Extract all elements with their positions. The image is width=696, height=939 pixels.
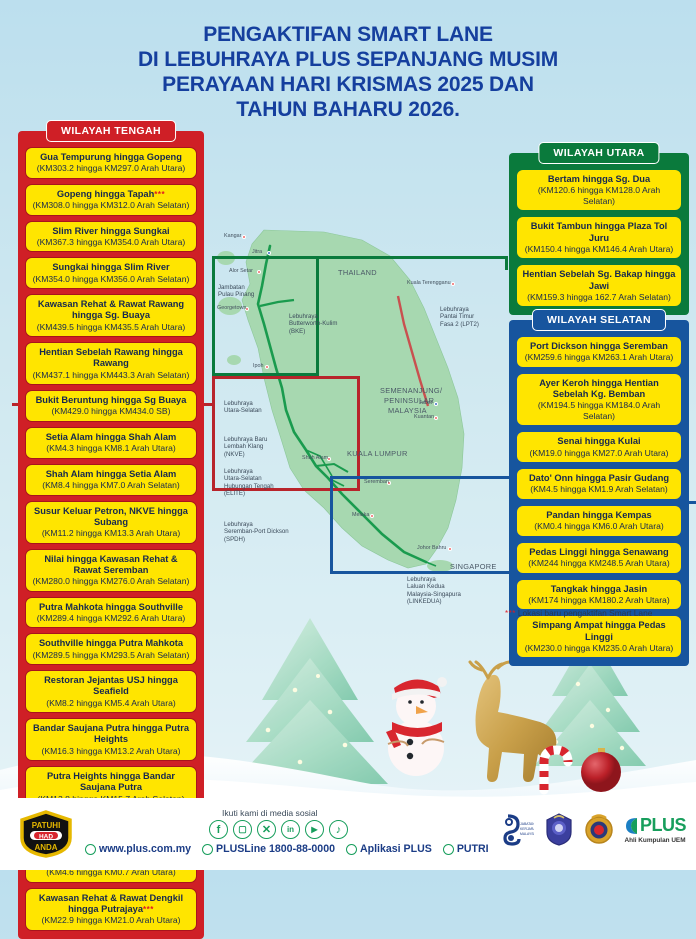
contact-label: Aplikasi PLUS <box>360 843 432 855</box>
map-city-dot <box>267 251 271 255</box>
location-km-range: (KM303.2 hingga KM297.0 Arah Utara) <box>30 163 192 174</box>
svg-text:JABATAN: JABATAN <box>520 822 534 826</box>
location-km-range: (KM174 hingga KM180.2 Arah Utara) <box>521 595 677 606</box>
location-item: Nilai hingga Kawasan Rehat & Rawat Serem… <box>25 549 197 592</box>
location-item: Bertam hingga Sg. Dua(KM120.6 hingga KM1… <box>516 169 682 211</box>
contact-item[interactable]: Aplikasi PLUS <box>346 843 432 855</box>
location-km-range: (KM429.0 hingga KM434.0 SB) <box>30 406 192 417</box>
location-name: Ayer Keroh hingga Hentian Sebelah Kg. Be… <box>521 378 677 400</box>
location-item: Kawasan Rehat & Rawat Dengkil hingga Put… <box>25 888 197 931</box>
jpj-logo <box>584 812 614 846</box>
location-item: Hentian Sebelah Sg. Bakap hingga Jawi(KM… <box>516 264 682 307</box>
map-city-dot <box>257 270 261 274</box>
location-km-range: (KM244 hingga KM248.5 Arah Utara) <box>521 558 677 569</box>
footnote-asterisk: *** <box>505 609 516 618</box>
location-km-range: (KM159.3 hingga 162.7 Arah Selatan) <box>521 292 677 303</box>
location-name: Nilai hingga Kawasan Rehat & Rawat Serem… <box>30 554 192 576</box>
globe-icon <box>85 844 96 855</box>
location-item: Setia Alam hingga Shah Alam(KM4.3 hingga… <box>25 427 197 459</box>
location-name: Sungkai hingga Slim River <box>30 262 192 273</box>
location-name: Bertam hingga Sg. Dua <box>521 174 677 185</box>
contact-item[interactable]: PLUSLine 1800-88-0000 <box>202 843 335 855</box>
location-item: Shah Alam hingga Setia Alam(KM8.4 hingga… <box>25 464 197 496</box>
plus-swoosh-icon <box>624 815 640 835</box>
location-item: Putra Mahkota hingga Southville(KM289.4 … <box>25 597 197 629</box>
plus-logo-text: PLUS <box>640 815 686 836</box>
location-name: Tangkak hingga Jasin <box>521 584 677 595</box>
snowman <box>386 677 447 776</box>
location-item: Southville hingga Putra Mahkota(KM289.5 … <box>25 633 197 665</box>
mobile-app-icon <box>346 844 357 855</box>
location-item: Senai hingga Kulai(KM19.0 hingga KM27.0 … <box>516 431 682 463</box>
contact-item[interactable]: PUTRI <box>443 843 489 855</box>
location-name: Susur Keluar Petron, NKVE hingga Subang <box>30 506 192 528</box>
contact-label: PUTRI <box>457 843 489 855</box>
location-name: Pandan hingga Kempas <box>521 510 677 521</box>
social-media-heading: Ikuti kami di media sosial <box>222 808 318 818</box>
facebook-icon[interactable]: f <box>209 820 228 839</box>
svg-text:KERJARAYA: KERJARAYA <box>520 827 534 831</box>
location-km-range: (KM439.5 hingga KM435.5 Arah Utara) <box>30 322 192 333</box>
location-name: Port Dickson hingga Seremban <box>521 341 677 352</box>
location-name: Kawasan Rehat & Rawat Rawang hingga Sg. … <box>30 299 192 321</box>
map-city-label: Jabor <box>419 400 433 406</box>
location-km-range: (KM8.2 hingga KM5.4 Arah Utara) <box>30 698 192 709</box>
contact-item[interactable]: www.plus.com.my <box>85 843 191 855</box>
infographic-root: PENGAKTIFAN SMART LANE DI LEBUHRAYA PLUS… <box>0 0 696 870</box>
location-name: Putra Mahkota hingga Southville <box>30 602 192 613</box>
map-city-label: Kangar <box>224 233 241 239</box>
location-item: Gua Tempurung hingga Gopeng(KM303.2 hing… <box>25 147 197 179</box>
peninsular-malaysia-map: THAILANDSEMENANJUNG/PENINSULARMALAYSIAKU… <box>212 228 512 600</box>
contact-row: www.plus.com.myPLUSLine 1800-88-0000Apli… <box>85 843 489 855</box>
map-country-label: KUALA LUMPUR <box>347 449 408 458</box>
instagram-icon[interactable]: ▢ <box>233 820 252 839</box>
location-km-range: (KM367.3 hingga KM354.0 Arah Utara) <box>30 237 192 248</box>
phone-icon <box>202 844 213 855</box>
social-media-row: f▢✕in▶♪ <box>209 820 348 839</box>
linkedin-icon[interactable]: in <box>281 820 300 839</box>
location-km-range: (KM16.3 hingga KM13.2 Arah Utara) <box>30 746 192 757</box>
location-item: Bukit Tambun hingga Plaza Tol Juru(KM150… <box>516 216 682 259</box>
svg-text:HAD: HAD <box>39 834 53 841</box>
microphone-icon <box>443 844 454 855</box>
location-km-range: (KM4.5 hingga KM1.9 Arah Selatan) <box>521 484 677 495</box>
location-km-range: (KM19.0 hingga KM27.0 Arah Utara) <box>521 448 677 459</box>
location-item: Pandan hingga Kempas(KM0.4 hingga KM6.0 … <box>516 505 682 537</box>
location-item: Pedas Linggi hingga Senawang(KM244 hingg… <box>516 542 682 574</box>
badge-wilayah-utara: WILAYAH UTARA <box>538 142 659 164</box>
map-highway-label: LebuhrayaSeremban-Port Dickson(SPDH) <box>224 521 289 543</box>
plus-logo: PLUS Ahli Kumpulan UEM <box>624 815 686 844</box>
location-name: Bukit Tambun hingga Plaza Tol Juru <box>521 221 677 243</box>
map-highway-label: LebuhrayaUtara-Selatan <box>224 400 262 415</box>
map-highway-label: LebuhrayaLaluan KeduaMalaysia-Singapura(… <box>407 576 461 606</box>
location-km-range: (KM354.0 hingga KM356.0 Arah Selatan) <box>30 274 192 285</box>
location-name: Bandar Saujana Putra hingga Putra Height… <box>30 723 192 745</box>
candy-cane <box>544 750 568 790</box>
map-city-dot <box>451 282 455 286</box>
location-km-range: (KM8.4 hingga KM7.0 Arah Selatan) <box>30 480 192 491</box>
location-name: Pedas Linggi hingga Senawang <box>521 547 677 558</box>
location-item: Simpang Ampat hingga Pedas Linggi(KM230.… <box>516 615 682 658</box>
new-location-asterisk: *** <box>143 905 154 914</box>
reindeer <box>470 662 556 782</box>
map-city-label: Melaka <box>352 512 369 518</box>
location-item: Hentian Sebelah Rawang hingga Rawang(KM4… <box>25 342 197 385</box>
location-item: Kawasan Rehat & Rawat Rawang hingga Sg. … <box>25 294 197 337</box>
map-city-label: Georgetown <box>217 305 246 311</box>
footnote-text: Lokasi baru pengaktifan Smart Lane <box>518 608 653 618</box>
footer: PATUHI HAD ANDA Ikuti kami di media sosi… <box>0 798 696 870</box>
location-item: Gopeng hingga Tapah***(KM308.0 hingga KM… <box>25 184 197 216</box>
location-km-range: (KM150.4 hingga KM146.4 Arah Utara) <box>521 244 677 255</box>
map-city-dot <box>448 547 452 551</box>
map-city-label: Johor Bahru <box>417 545 446 551</box>
map-city-label: Alor Setar <box>229 268 253 274</box>
map-city-dot <box>242 235 246 239</box>
location-name: Setia Alam hingga Shah Alam <box>30 432 192 443</box>
map-highway-label: Lebuhraya BaruLembah Klang(NKVE) <box>224 436 267 458</box>
location-km-range: (KM437.1 hingga KM443.3 Arah Selatan) <box>30 370 192 381</box>
map-city-dot <box>434 402 438 406</box>
panel-wilayah-utara: WILAYAH UTARA Bertam hingga Sg. Dua(KM12… <box>509 153 689 315</box>
jkr-logo: JABATAN KERJARAYA MALAYSIA <box>500 812 534 846</box>
christmas-bauble <box>581 748 621 792</box>
location-name: Hentian Sebelah Rawang hingga Rawang <box>30 347 192 369</box>
location-km-range: (KM11.2 hingga KM13.3 Arah Utara) <box>30 528 192 539</box>
location-km-range: (KM230.0 hingga KM235.0 Arah Utara) <box>521 643 677 654</box>
svg-text:PATUHI: PATUHI <box>32 821 61 830</box>
panel-utara-items: Bertam hingga Sg. Dua(KM120.6 hingga KM1… <box>509 153 689 315</box>
location-name: Bukit Beruntung hingga Sg Buaya <box>30 395 192 406</box>
location-item: Port Dickson hingga Seremban(KM259.6 hin… <box>516 336 682 368</box>
map-city-label: Jitra <box>252 249 262 255</box>
location-item: Tangkak hingga Jasin(KM174 hingga KM180.… <box>516 579 682 611</box>
location-name: Shah Alam hingga Setia Alam <box>30 469 192 480</box>
location-item: Bukit Beruntung hingga Sg Buaya(KM429.0 … <box>25 390 197 422</box>
location-item: Restoran Jejantas USJ hingga Seafield(KM… <box>25 670 197 713</box>
new-location-asterisk: *** <box>154 190 165 199</box>
connector-north <box>316 256 508 259</box>
map-city-label: Kuala Terengganu <box>407 280 451 286</box>
map-city-label: Seremban <box>364 479 389 485</box>
map-highway-label: LebuhrayaPantai TimurFasa 2 (LPT2) <box>440 306 479 328</box>
location-name: Gua Tempurung hingga Gopeng <box>30 152 192 163</box>
location-item: Susur Keluar Petron, NKVE hingga Subang(… <box>25 501 197 544</box>
location-name: Putra Heights hingga Bandar Saujana Putr… <box>30 771 192 793</box>
location-km-range: (KM289.5 hingga KM293.5 Arah Selatan) <box>30 650 192 661</box>
location-name: Southville hingga Putra Mahkota <box>30 638 192 649</box>
location-km-range: (KM259.6 hingga KM263.1 Arah Utara) <box>521 352 677 363</box>
location-km-range: (KM289.4 hingga KM292.6 Arah Utara) <box>30 613 192 624</box>
youtube-icon[interactable]: ▶ <box>305 820 324 839</box>
location-name: Kawasan Rehat & Rawat Dengkil hingga Put… <box>30 893 192 915</box>
title-line-3: PERAYAAN HARI KRISMAS 2025 DAN <box>0 72 696 97</box>
map-highway-label: JambatanPulau Pinang <box>218 284 254 299</box>
christmas-tree-left <box>232 618 388 784</box>
location-km-range: (KM120.6 hingga KM128.0 Arah Selatan) <box>521 185 677 206</box>
map-highway-label: LebuhrayaButterworth-Kulim(BKE) <box>289 313 337 335</box>
map-region-box-south <box>330 476 512 574</box>
map-country-label: THAILAND <box>338 268 377 277</box>
svg-text:MALAYSIA: MALAYSIA <box>520 832 534 836</box>
location-name: Restoran Jejantas USJ hingga Seafield <box>30 675 192 697</box>
location-item: Slim River hingga Sungkai(KM367.3 hingga… <box>25 221 197 253</box>
location-km-range: (KM194.5 hingga KM184.0 Arah Selatan) <box>521 400 677 421</box>
location-item: Ayer Keroh hingga Hentian Sebelah Kg. Be… <box>516 373 682 427</box>
map-city-dot <box>370 514 374 518</box>
location-name: Simpang Ampat hingga Pedas Linggi <box>521 620 677 642</box>
map-city-label: Ipoh <box>253 363 264 369</box>
map-country-label: SEMENANJUNG/ <box>380 386 442 395</box>
location-item: Sungkai hingga Slim River(KM354.0 hingga… <box>25 257 197 289</box>
contact-label: www.plus.com.my <box>99 843 191 855</box>
location-km-range: (KM4.3 hingga KM8.1 Arah Utara) <box>30 443 192 454</box>
map-highway-label: LebuhrayaUtara-SelatanHubungan Tengah(EL… <box>224 468 274 498</box>
badge-wilayah-tengah: WILAYAH TENGAH <box>46 120 176 142</box>
map-city-label: Kuantan <box>414 414 434 420</box>
location-item: Bandar Saujana Putra hingga Putra Height… <box>25 718 197 761</box>
location-name: Senai hingga Kulai <box>521 436 677 447</box>
title-line-2: DI LEBUHRAYA PLUS SEPANJANG MUSIM <box>0 47 696 72</box>
location-name: Gopeng hingga Tapah*** <box>30 189 192 200</box>
location-km-range: (KM0.4 hingga KM6.0 Arah Utara) <box>521 521 677 532</box>
tiktok-icon[interactable]: ♪ <box>329 820 348 839</box>
plus-logo-tagline: Ahli Kumpulan UEM <box>624 837 685 844</box>
location-km-range: (KM22.9 hingga KM21.0 Arah Utara) <box>30 915 192 926</box>
footnote-new-locations: ***Lokasi baru pengaktifan Smart Lane <box>505 608 690 618</box>
title-line-1: PENGAKTIFAN SMART LANE <box>0 22 696 47</box>
pdrm-logo <box>544 812 574 846</box>
map-city-label: Shah Alam <box>302 455 328 461</box>
patuhi-had-anda-badge: PATUHI HAD ANDA <box>18 810 74 858</box>
map-country-label: SINGAPORE <box>450 562 497 571</box>
location-km-range: (KM280.0 hingga KM276.0 Arah Selatan) <box>30 576 192 587</box>
x-twitter-icon[interactable]: ✕ <box>257 820 276 839</box>
location-name: Dato' Onn hingga Pasir Gudang <box>521 473 677 484</box>
location-item: Dato' Onn hingga Pasir Gudang(KM4.5 hing… <box>516 468 682 500</box>
page-title: PENGAKTIFAN SMART LANE DI LEBUHRAYA PLUS… <box>0 22 696 122</box>
connector-north-v <box>505 256 508 270</box>
location-name: Hentian Sebelah Sg. Bakap hingga Jawi <box>521 269 677 291</box>
location-name: Slim River hingga Sungkai <box>30 226 192 237</box>
partner-logos: JABATAN KERJARAYA MALAYSIA <box>500 812 686 846</box>
contact-label: PLUSLine 1800-88-0000 <box>216 843 335 855</box>
title-line-4: TAHUN BAHARU 2026. <box>0 97 696 122</box>
location-km-range: (KM308.0 hingga KM312.0 Arah Selatan) <box>30 200 192 211</box>
badge-wilayah-selatan: WILAYAH SELATAN <box>532 309 666 331</box>
svg-text:ANDA: ANDA <box>34 843 57 852</box>
